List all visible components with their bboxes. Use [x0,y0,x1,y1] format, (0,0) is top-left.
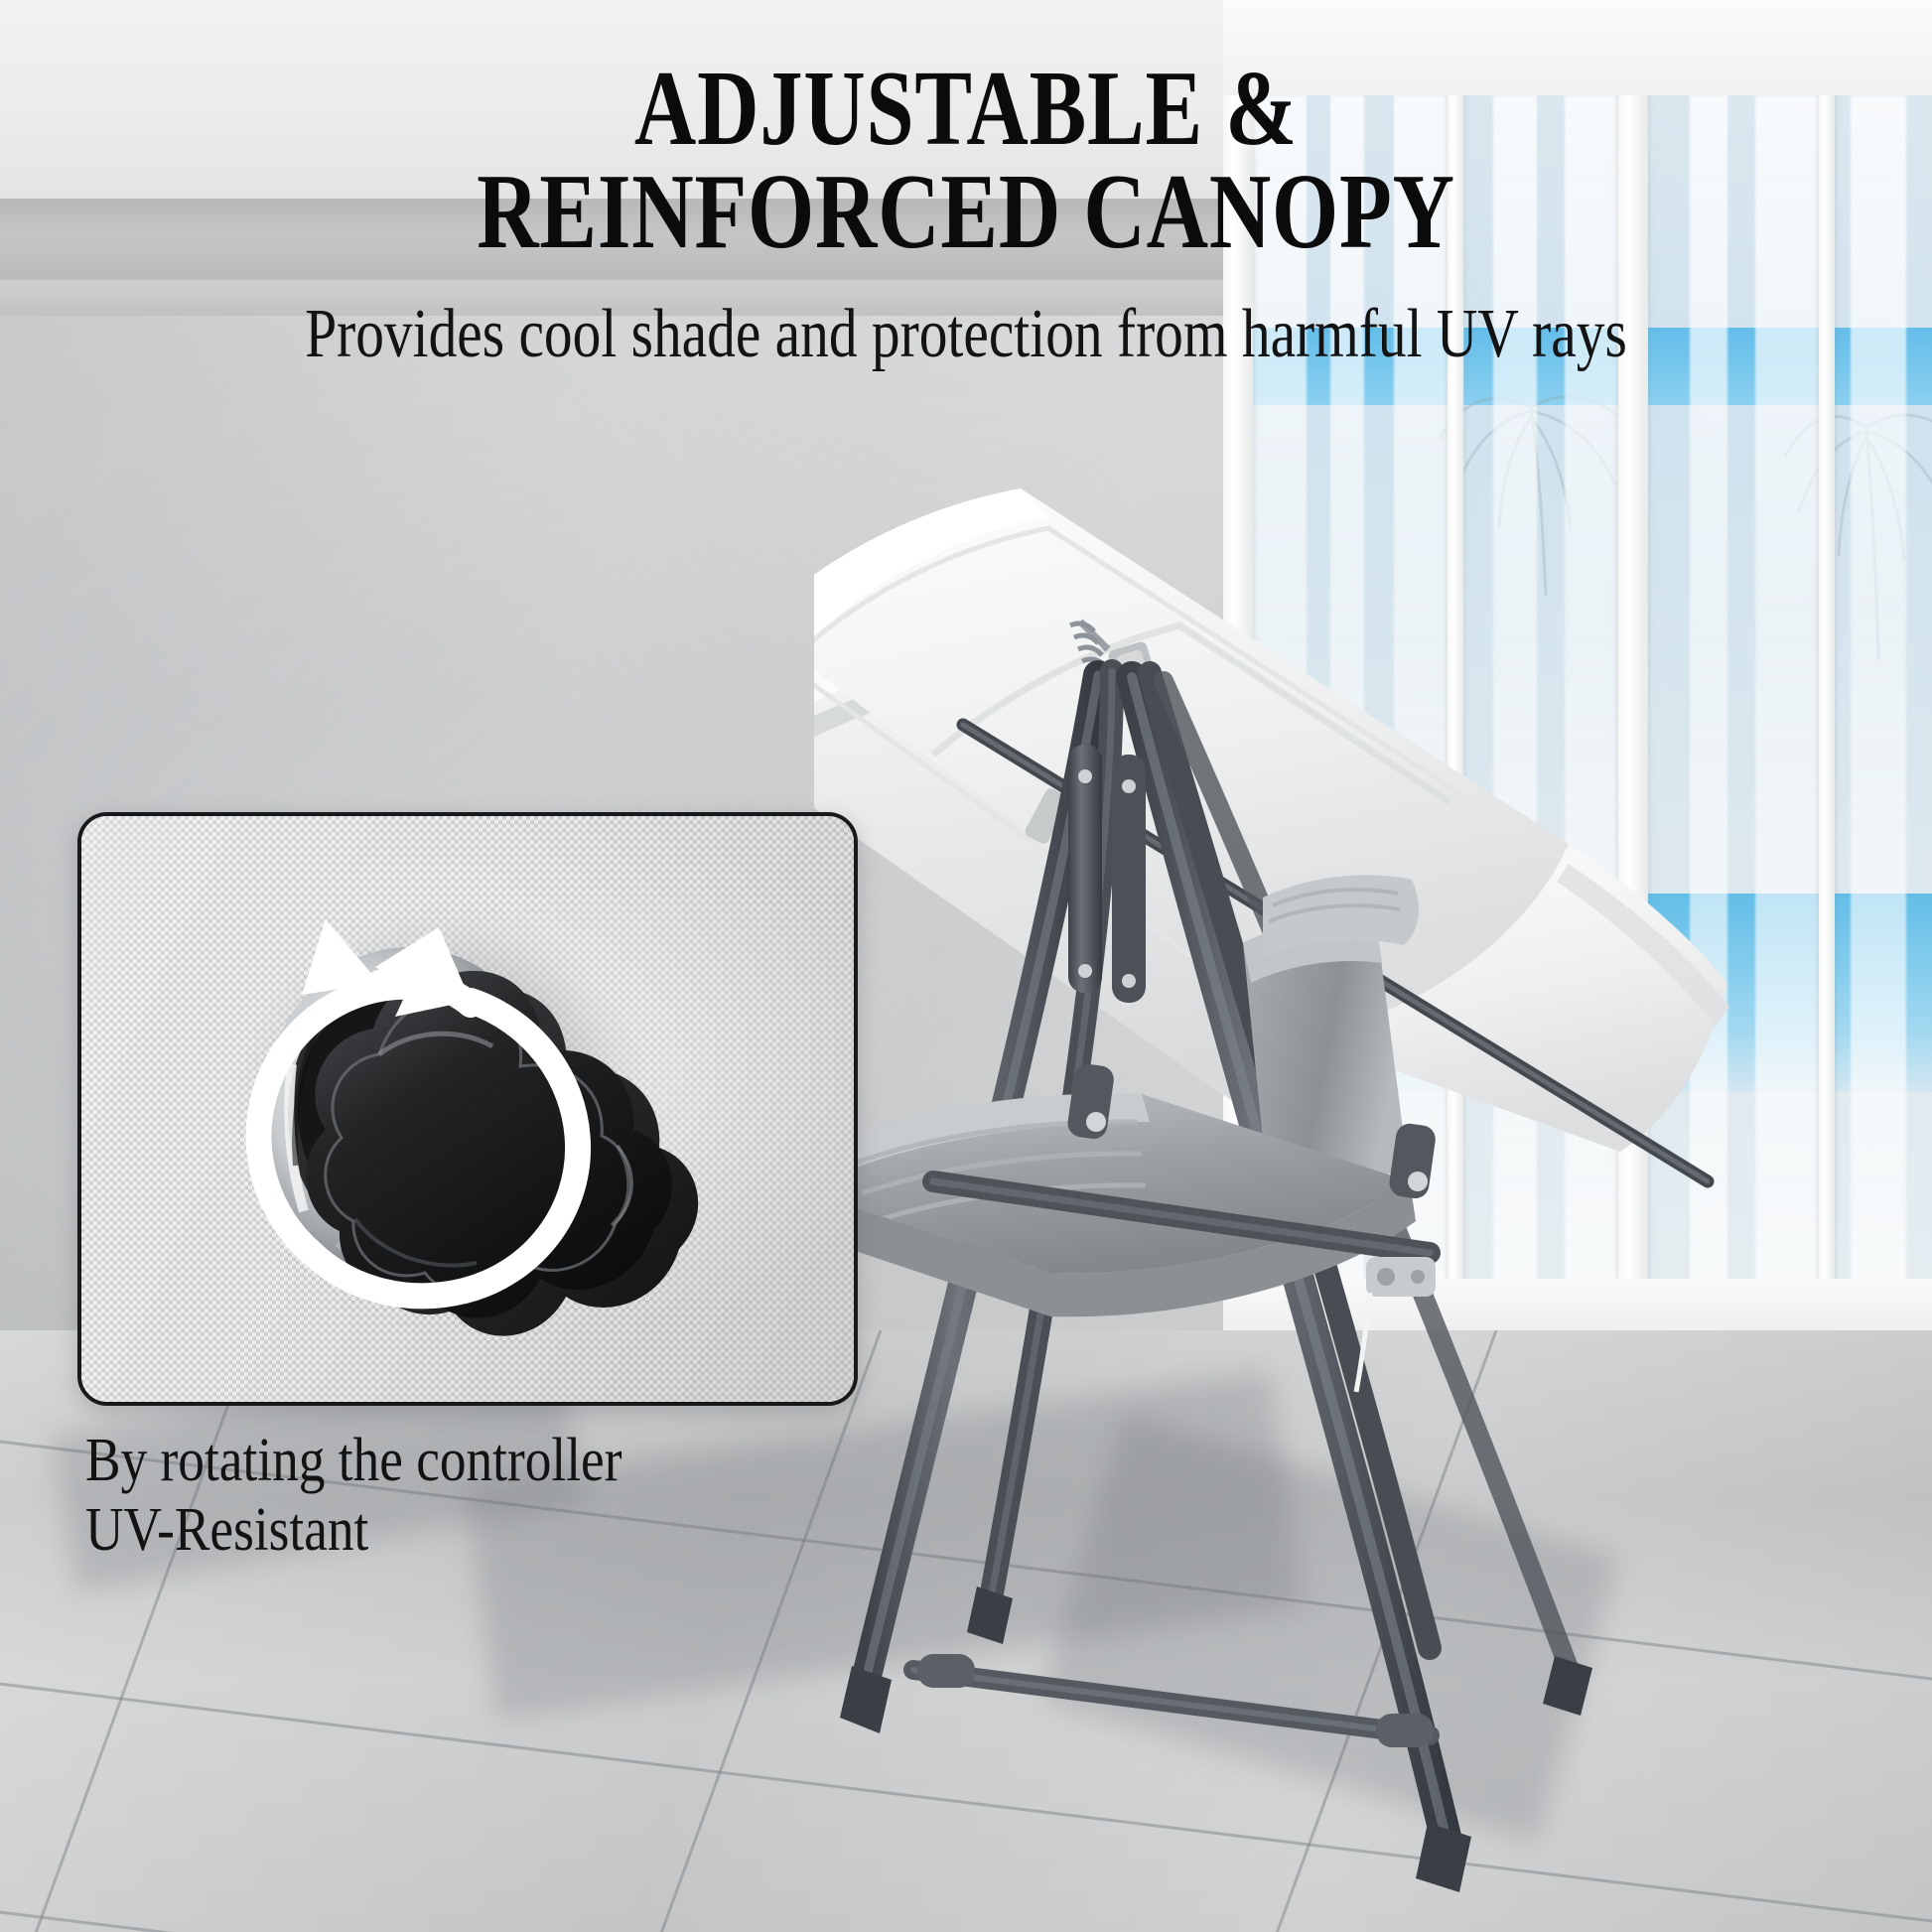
knob-graphic [81,816,854,1402]
controller-inset-panel [77,812,858,1406]
product-feature-image: ADJUSTABLE & REINFORCED CANOPY Provides … [0,0,1932,1932]
headline: ADJUSTABLE & REINFORCED CANOPY [194,58,1739,264]
swing-chair-illustration [814,427,1932,1906]
headline-line-2: REINFORCED CANOPY [194,161,1739,264]
frame-feet [840,1587,1592,1892]
headline-line-1: ADJUSTABLE & [194,58,1739,161]
recline-hinge [1356,1257,1436,1392]
inset-caption: By rotating the controller UV-Resistant [85,1426,785,1565]
subtitle: Provides cool shade and protection from … [174,298,1758,371]
caption-line-2: UV-Resistant [85,1495,785,1565]
bottom-cross-brace [913,1654,1434,1747]
caption-line-1: By rotating the controller [85,1426,785,1495]
